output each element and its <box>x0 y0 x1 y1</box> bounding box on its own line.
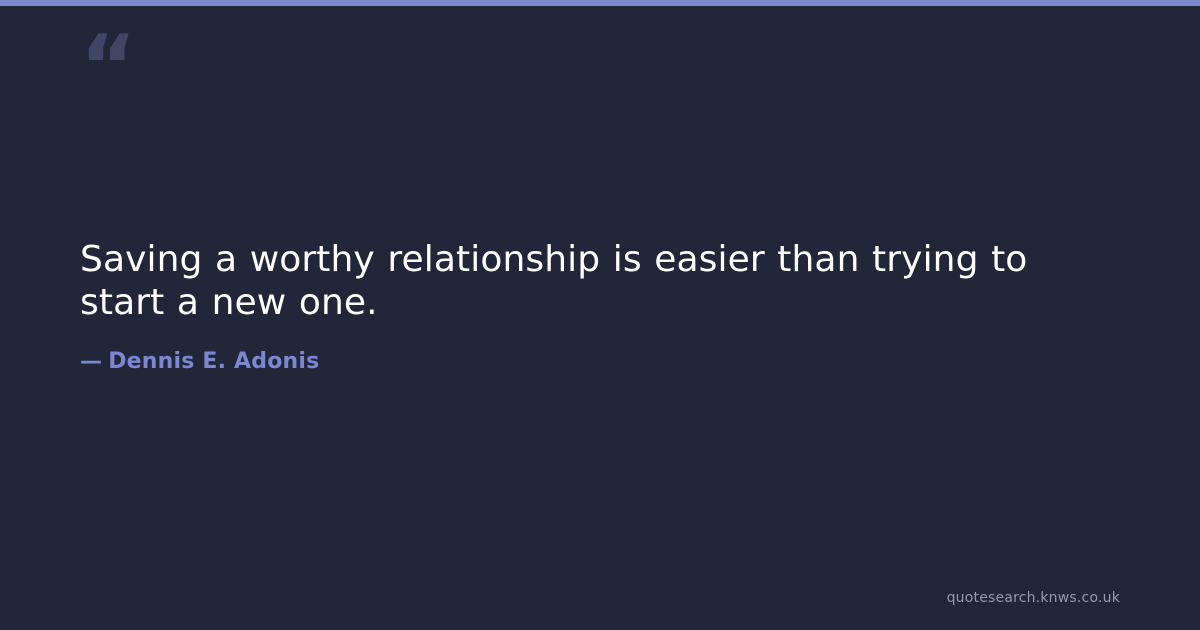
opening-quote-mark-icon: “ <box>80 24 140 86</box>
site-watermark: quotesearch.knws.co.uk <box>947 590 1120 606</box>
quote-content: Saving a worthy relationship is easier t… <box>80 238 1070 375</box>
top-accent-bar <box>0 0 1200 6</box>
quote-attribution: —Dennis E. Adonis <box>80 324 1070 375</box>
quote-text: Saving a worthy relationship is easier t… <box>80 238 1070 324</box>
quote-author-name: Dennis E. Adonis <box>108 349 319 374</box>
quote-card: “ Saving a worthy relationship is easier… <box>0 0 1200 630</box>
attribution-dash: — <box>80 349 102 375</box>
